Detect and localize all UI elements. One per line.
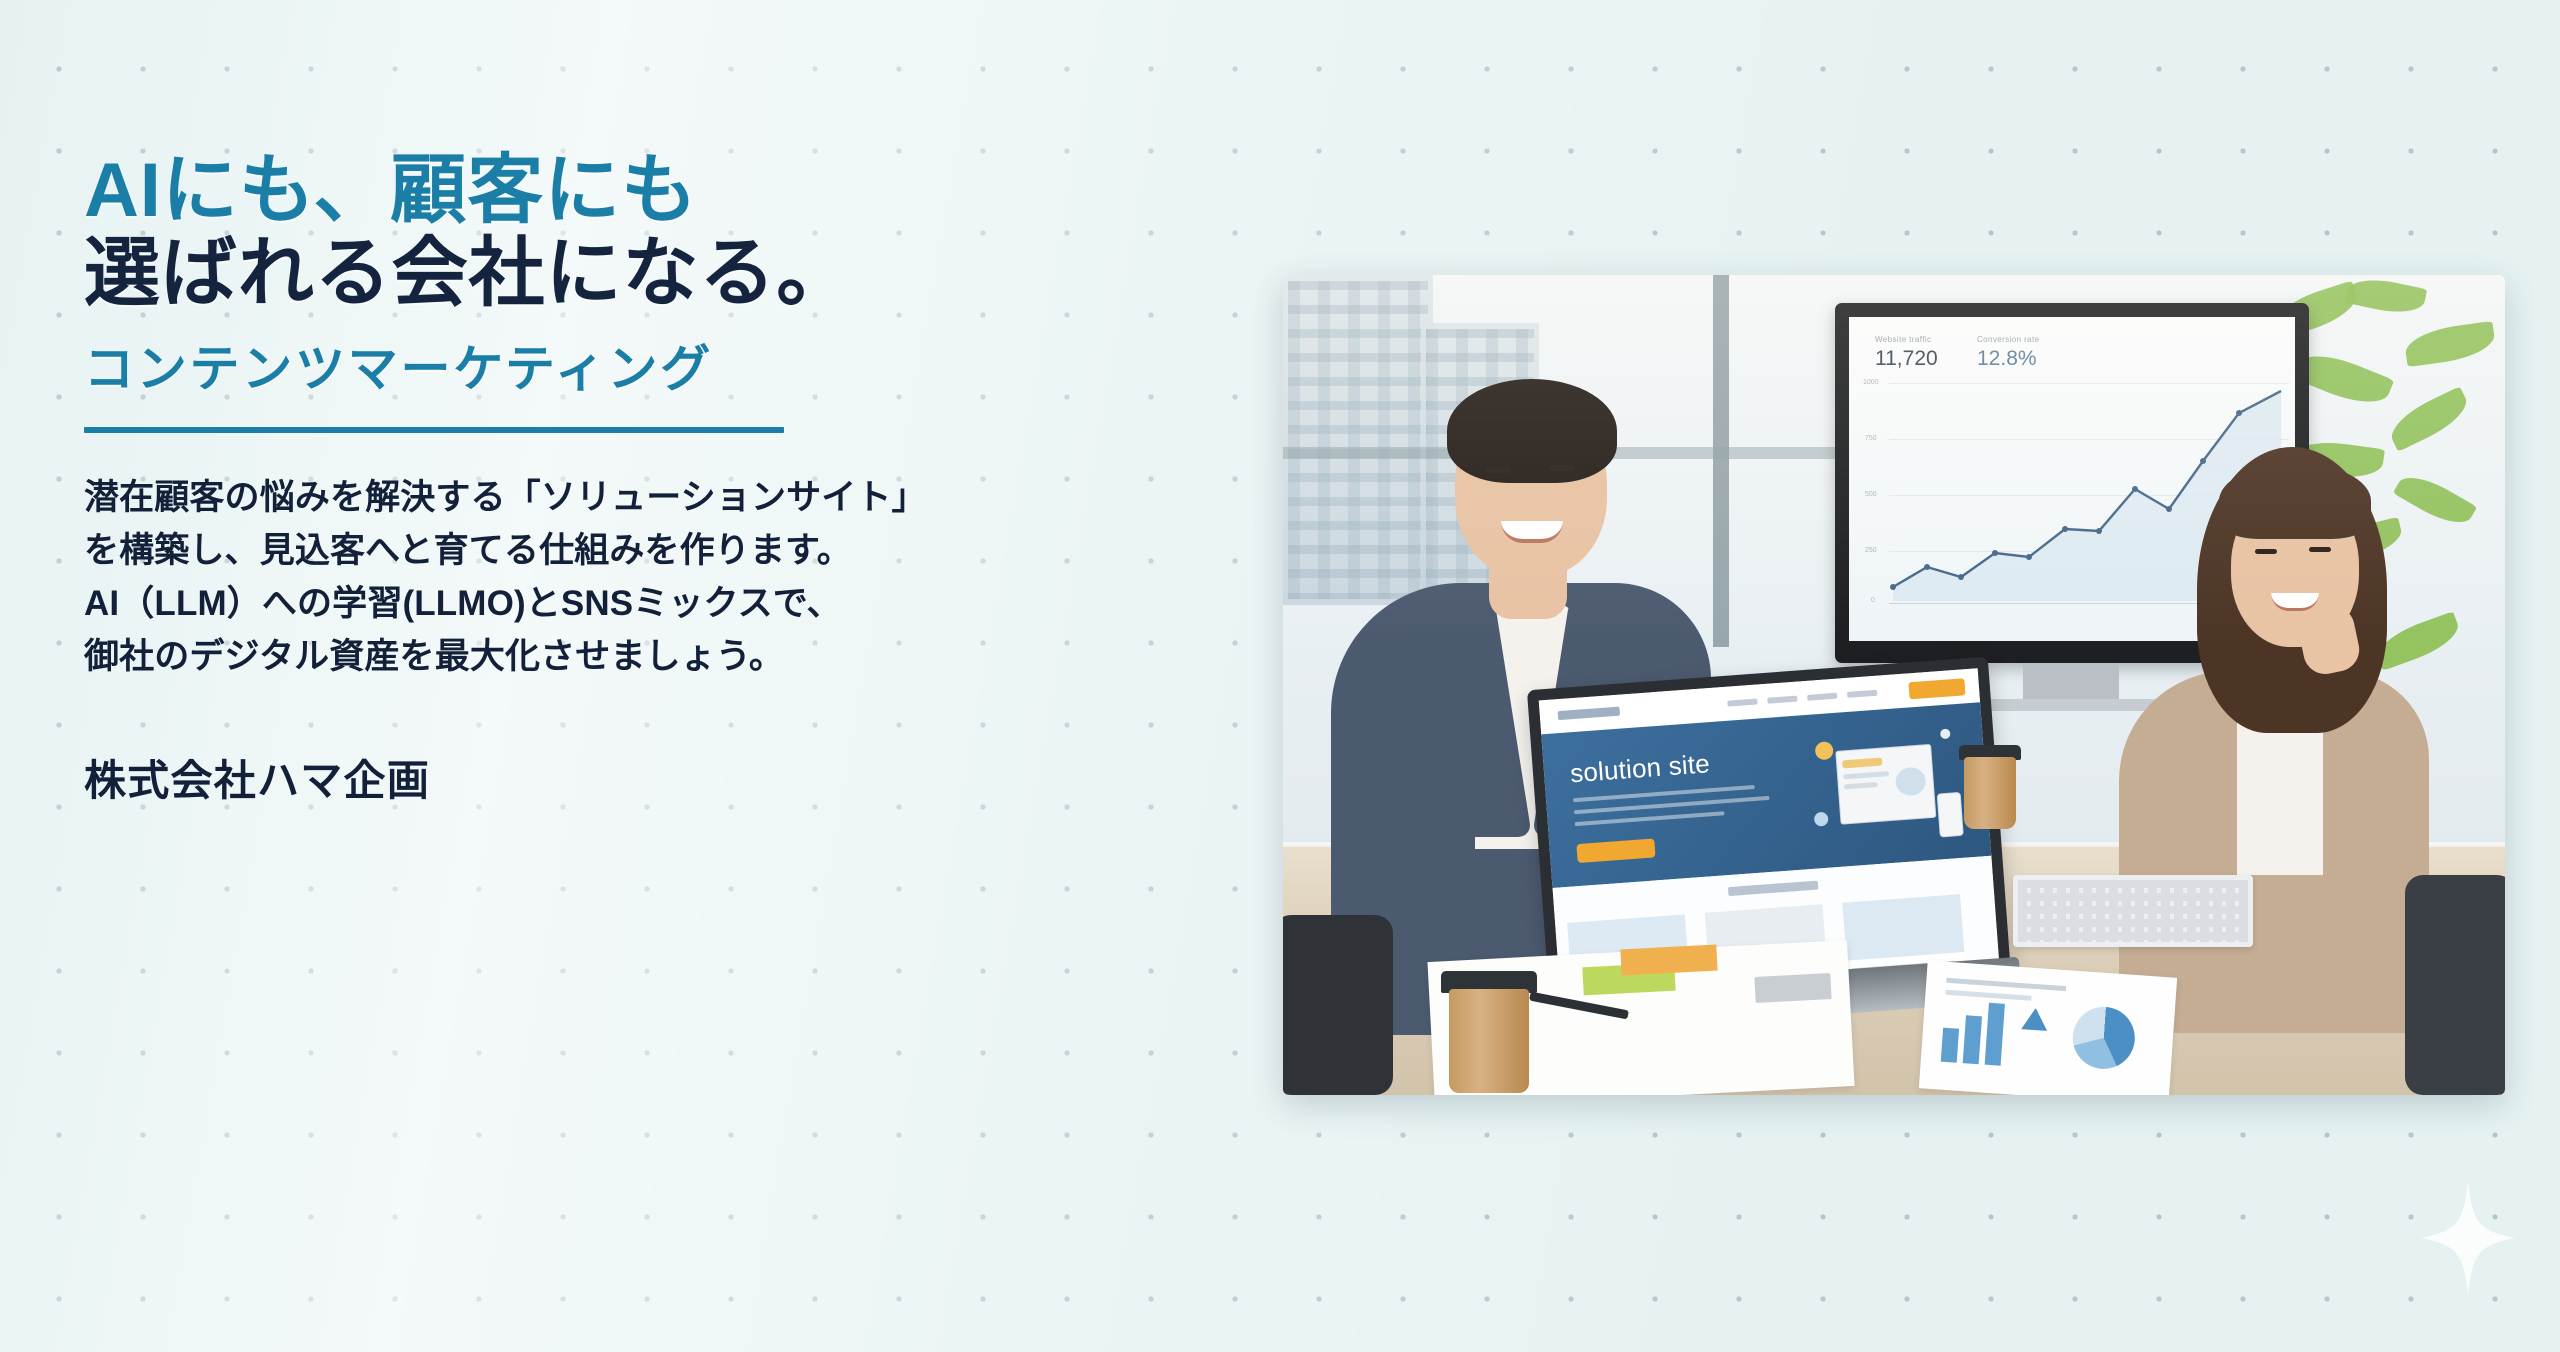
y-tick-1000: 1000 [1863,379,1879,386]
hero-text-line [1575,811,1725,826]
sparkle-icon [2420,1182,2516,1294]
woman-hair-front [2219,463,2371,539]
body-copy-line-4: 御社のデジタル資産を最大化させましょう。 [84,630,804,683]
man-eye-right [1549,465,1575,471]
body-copy: 潜在顧客の悩みを解決する「ソリューションサイト」 を構築し、見込客へと育てる仕組… [84,471,804,684]
illustration-accent-dot [1940,728,1951,739]
illustration-phone [1937,792,1964,838]
y-tick-250: 250 [1865,547,1877,554]
report-arrow-up [2021,1007,2048,1031]
kpi-1-value: 11,720 [1875,347,1938,371]
coffee-cup-front [1449,989,1529,1093]
website-hero-title: solution site [1569,748,1711,789]
woman-eye-right [2309,547,2331,552]
illustration-accent-dot [1814,812,1829,827]
clipboard-clip [1754,973,1831,1003]
report-pie-chart [2071,1005,2137,1071]
accent-divider [84,427,784,433]
headline-subtitle: コンテンツマーケティング [84,329,804,401]
hero-illustration [1808,728,1966,851]
plant-leaf [2403,321,2497,367]
illustration-accent-dot [1815,741,1834,760]
feature-card-image [1842,894,1964,960]
monitor-stand [2023,663,2119,701]
printed-report-sheet [1919,960,2177,1095]
body-copy-line-1: 潜在顧客の悩みを解決する「ソリューションサイト」 [84,471,804,524]
office-chair [1283,915,1393,1095]
hero-cta-button[interactable] [1576,838,1655,863]
report-bar [1985,1003,2005,1066]
report-bar [1963,1015,1982,1064]
report-bar [1941,1028,1959,1063]
body-copy-line-3: AI（LLM）への学習(LLMO)とSNSミックスで、 [84,577,804,630]
headline-line-1: AIにも、顧客にも [84,150,804,231]
kpi-2-value: 12.8% [1977,347,2037,371]
body-copy-line-2: を構築し、見込客へと育てる仕組みを作ります。 [84,524,804,577]
section-heading [1728,881,1818,897]
y-tick-500: 500 [1865,491,1877,498]
hero-banner: AIにも、顧客にも 選ばれる会社になる。 コンテンツマーケティング 潜在顧客の悩… [0,0,2560,1352]
hero-photo: Website traffic 11,720 Conversion rate 1… [1283,275,2505,1095]
office-chair [2405,875,2505,1095]
company-name: 株式会社ハマ企画 [84,747,804,808]
headline-line-2: 選ばれる会社になる。 [84,233,804,314]
kpi-2-label: Conversion rate [1977,335,2039,344]
report-text-line [1945,990,2031,1001]
desktop-keyboard [2013,875,2253,947]
copy-column: AIにも、顧客にも 選ばれる会社になる。 コンテンツマーケティング 潜在顧客の悩… [84,150,804,808]
plant-leaf [2345,275,2428,319]
kpi-1-label: Website traffic [1875,335,1931,344]
woman-eye-left [2255,549,2277,554]
man-hair [1447,379,1617,483]
report-text-line [1946,978,2066,991]
man-eye-left [1485,467,1511,473]
coffee-cup-back [1964,757,2016,829]
sticky-note-orange [1620,945,1717,976]
y-tick-0: 0 [1871,597,1875,604]
y-tick-750: 750 [1865,435,1877,442]
